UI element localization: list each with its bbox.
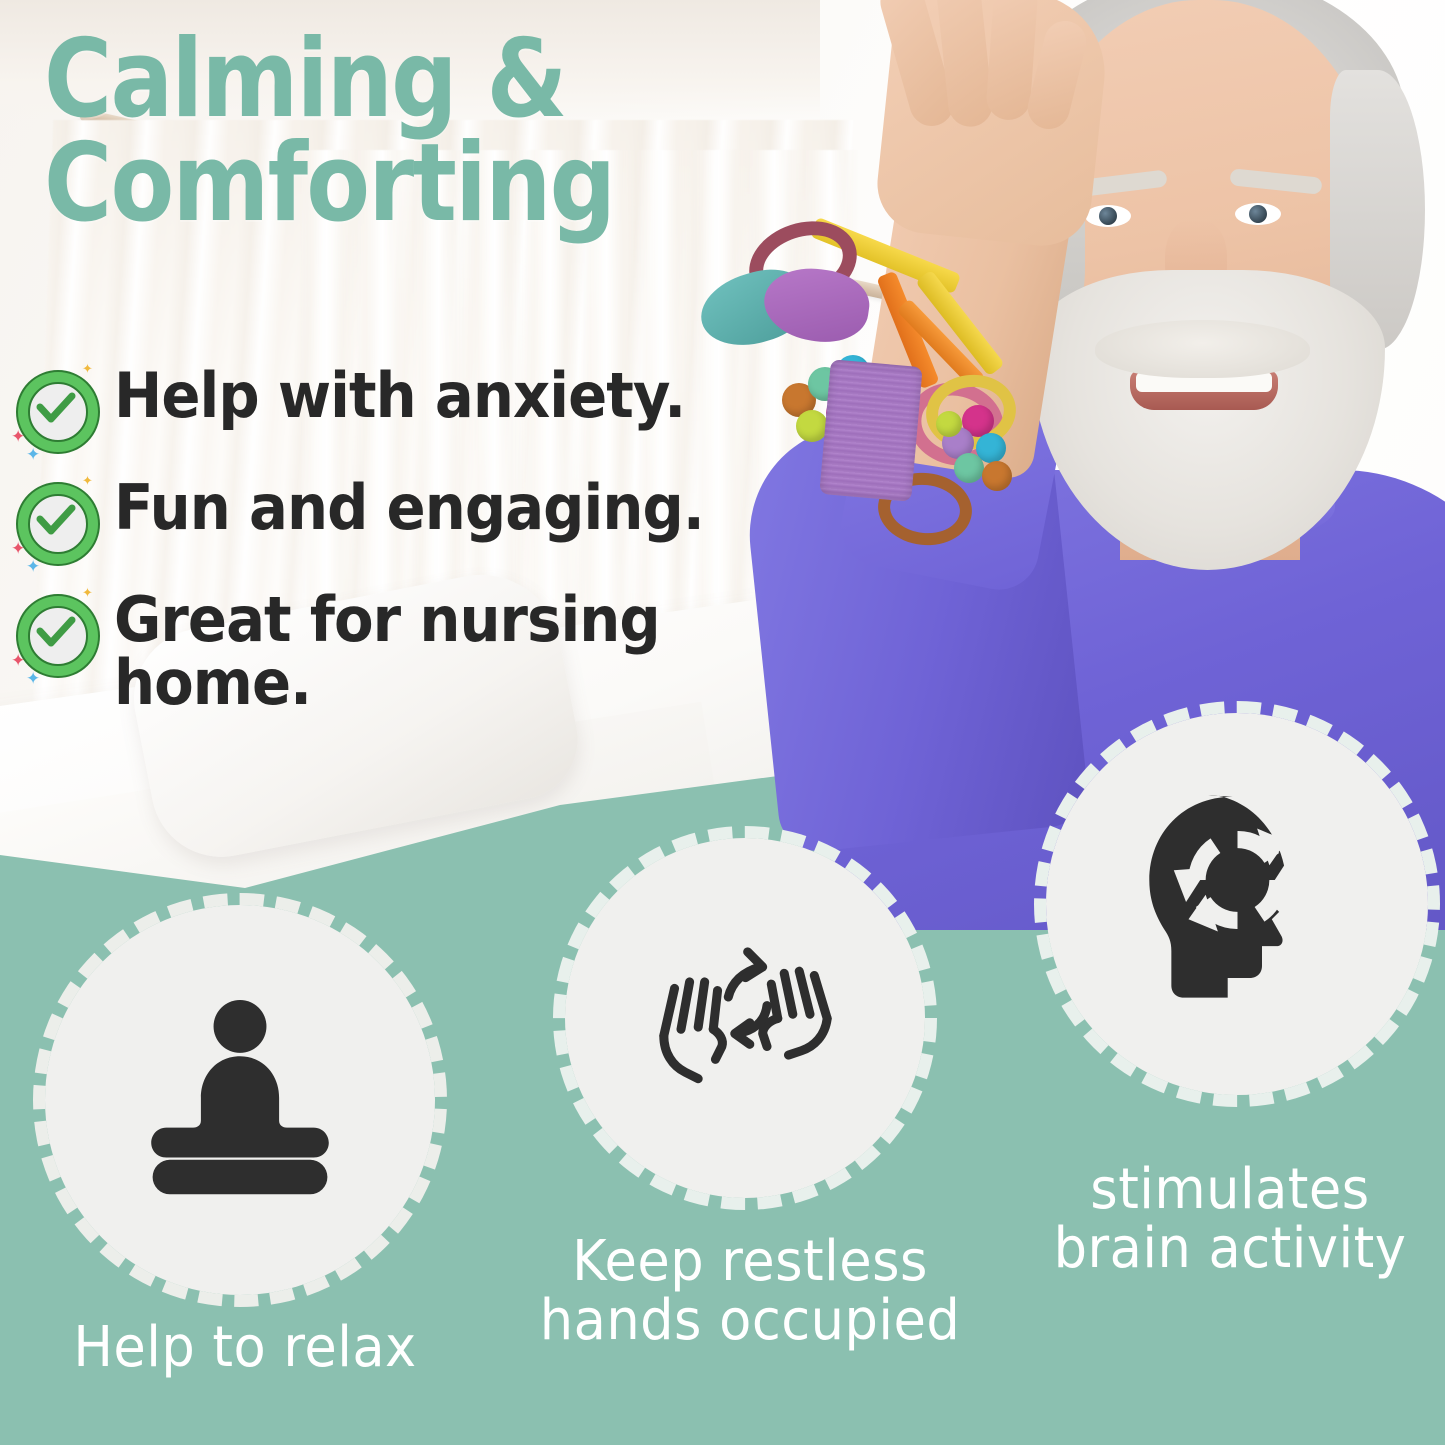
purple-felt-tag — [819, 359, 922, 502]
check-circle-icon: ✦ ✦ ✦ — [12, 366, 100, 454]
check-circle-icon: ✦ ✦ ✦ — [12, 590, 100, 678]
list-item-label: Fun and engaging. — [114, 474, 704, 539]
feature-caption-relax: Help to relax — [24, 1318, 466, 1377]
two-hands-exchange-icon — [638, 911, 853, 1126]
meditation-lotus-icon — [125, 985, 355, 1215]
bead — [936, 411, 962, 437]
list-item-label: Help with anxiety. — [114, 362, 685, 427]
list-item: ✦ ✦ ✦ Fun and engaging. — [12, 474, 772, 566]
eye-left — [1085, 205, 1131, 227]
eye-right — [1235, 203, 1281, 225]
mustache — [1095, 320, 1310, 378]
sparkle-yellow-icon: ✦ — [82, 362, 93, 375]
list-item: ✦ ✦ ✦ Great for nursing home. — [12, 586, 772, 714]
list-item: ✦ ✦ ✦ Help with anxiety. — [12, 362, 772, 454]
feature-caption-hands: Keep restlesshands occupied — [524, 1232, 975, 1351]
page-title: Calming & Comforting — [44, 28, 646, 235]
headline-line-2: Comforting — [44, 132, 646, 236]
caption-line: brain activity — [1023, 1219, 1437, 1278]
feature-badge-hands — [565, 838, 925, 1198]
caption-line: hands occupied — [524, 1291, 975, 1350]
sparkle-yellow-icon: ✦ — [82, 586, 93, 599]
caption-line: stimulates — [1023, 1160, 1437, 1219]
headline-line-1: Calming & — [44, 28, 646, 132]
list-item-label: Great for nursing home. — [114, 586, 726, 714]
check-circle-icon: ✦ ✦ ✦ — [12, 478, 100, 566]
bead — [982, 461, 1012, 491]
sparkle-yellow-icon: ✦ — [82, 474, 93, 487]
product-feature-poster: Calming & Comforting ✦ ✦ ✦ Help with anx… — [0, 0, 1445, 1445]
bead — [954, 453, 984, 483]
feature-caption-brain: stimulatesbrain activity — [1023, 1160, 1437, 1279]
benefit-list: ✦ ✦ ✦ Help with anxiety. ✦ ✦ ✦ Fun and e… — [12, 362, 772, 734]
caption-line: Keep restless — [524, 1232, 975, 1291]
head-refresh-cycle-icon — [1115, 782, 1360, 1027]
feature-badge-brain — [1046, 713, 1428, 1095]
feature-badge-relax — [45, 905, 435, 1295]
